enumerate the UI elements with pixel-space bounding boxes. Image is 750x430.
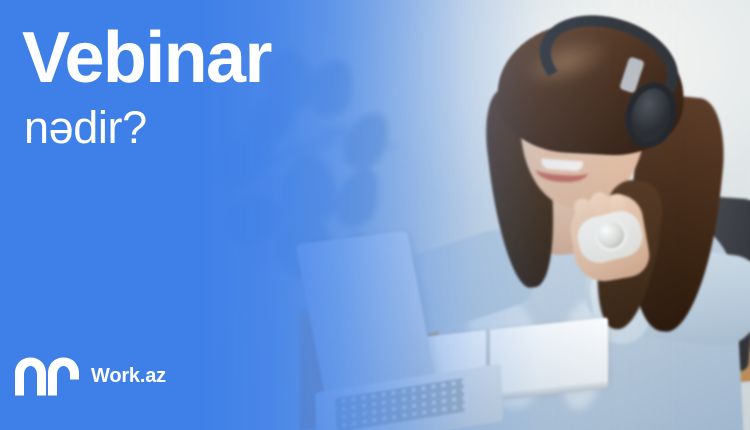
work-az-logo-mark-icon [14, 356, 80, 396]
brand-logo[interactable]: Work.az [14, 356, 166, 396]
headline-block: Vebinar nədir? [22, 24, 271, 150]
brand-wordmark: Work.az [91, 366, 166, 386]
webinar-banner: Vebinar nədir? Work.az [0, 0, 750, 430]
page-subtitle: nədir? [24, 105, 271, 150]
page-title: Vebinar [22, 24, 271, 93]
